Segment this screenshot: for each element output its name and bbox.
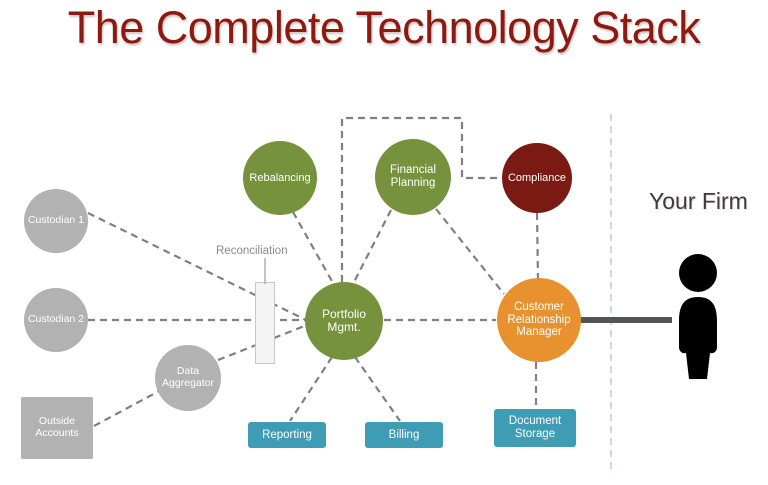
node-custodian-1-label: Custodian 1 [28,215,84,227]
wire-compliance-crm [537,213,538,279]
node-reporting[interactable]: Reporting [248,422,326,448]
node-data-aggregator-label: Data Aggregator [155,366,221,390]
your-firm-label: Your Firm [649,188,748,215]
wire-portfolio-reporting [290,357,332,421]
node-portfolio-mgmt[interactable]: Portfolio Mgmt. [305,282,383,360]
node-reporting-label: Reporting [262,429,312,442]
person-icon [676,253,720,381]
node-custodian-1[interactable]: Custodian 1 [24,189,88,253]
node-financial-planning[interactable]: Financial Planning [375,139,451,215]
node-rebalancing-label: Rebalancing [249,172,310,184]
node-compliance[interactable]: Compliance [502,143,572,213]
node-customer-relationship-manager[interactable]: Customer Relationship Manager [497,278,581,362]
connector-layer [0,0,768,485]
node-rebalancing[interactable]: Rebalancing [243,141,317,215]
node-document-storage-label: Document Storage [494,415,576,441]
wire-financial-portfolio [353,210,391,284]
node-billing-label: Billing [389,429,420,442]
node-crm-label: Customer Relationship Manager [497,301,581,340]
node-data-aggregator[interactable]: Data Aggregator [155,345,221,411]
reconciliation-leader-line [255,258,275,284]
wire-portfolio-billing [355,357,400,421]
slide-canvas: The Complete Technology Stack [0,0,768,485]
node-outside-accounts-label: Outside Accounts [21,416,93,440]
node-outside-accounts[interactable]: Outside Accounts [21,397,93,459]
node-document-storage[interactable]: Document Storage [494,409,576,447]
node-compliance-label: Compliance [508,172,566,184]
wire-financial-crm [436,209,504,294]
node-billing[interactable]: Billing [365,422,443,448]
reconciliation-bar [255,282,275,364]
node-custodian-2[interactable]: Custodian 2 [24,288,88,352]
node-custodian-2-label: Custodian 2 [28,314,84,326]
node-portfolio-mgmt-label: Portfolio Mgmt. [305,308,383,335]
reconciliation-label: Reconciliation [216,245,288,257]
node-financial-planning-label: Financial Planning [375,164,451,190]
wire-outside-aggregator [94,390,161,426]
wire-rebalancing-portfolio [293,212,333,283]
